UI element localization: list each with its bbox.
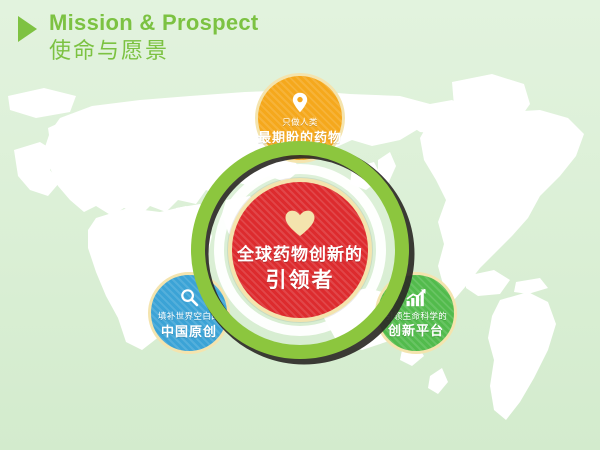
circular-diagram — [0, 0, 600, 450]
green-ring — [198, 148, 402, 352]
page-title-en: Mission & Prospect — [49, 10, 259, 36]
slide-canvas: Mission & Prospect 使命与愿景 全球药物创新的 引领者 — [0, 0, 600, 450]
play-triangle-icon — [18, 16, 37, 42]
title-block: Mission & Prospect 使命与愿景 — [49, 10, 259, 66]
slide-header: Mission & Prospect 使命与愿景 — [18, 10, 259, 66]
center-halo — [219, 169, 381, 331]
page-title-zh: 使命与愿景 — [49, 36, 259, 66]
